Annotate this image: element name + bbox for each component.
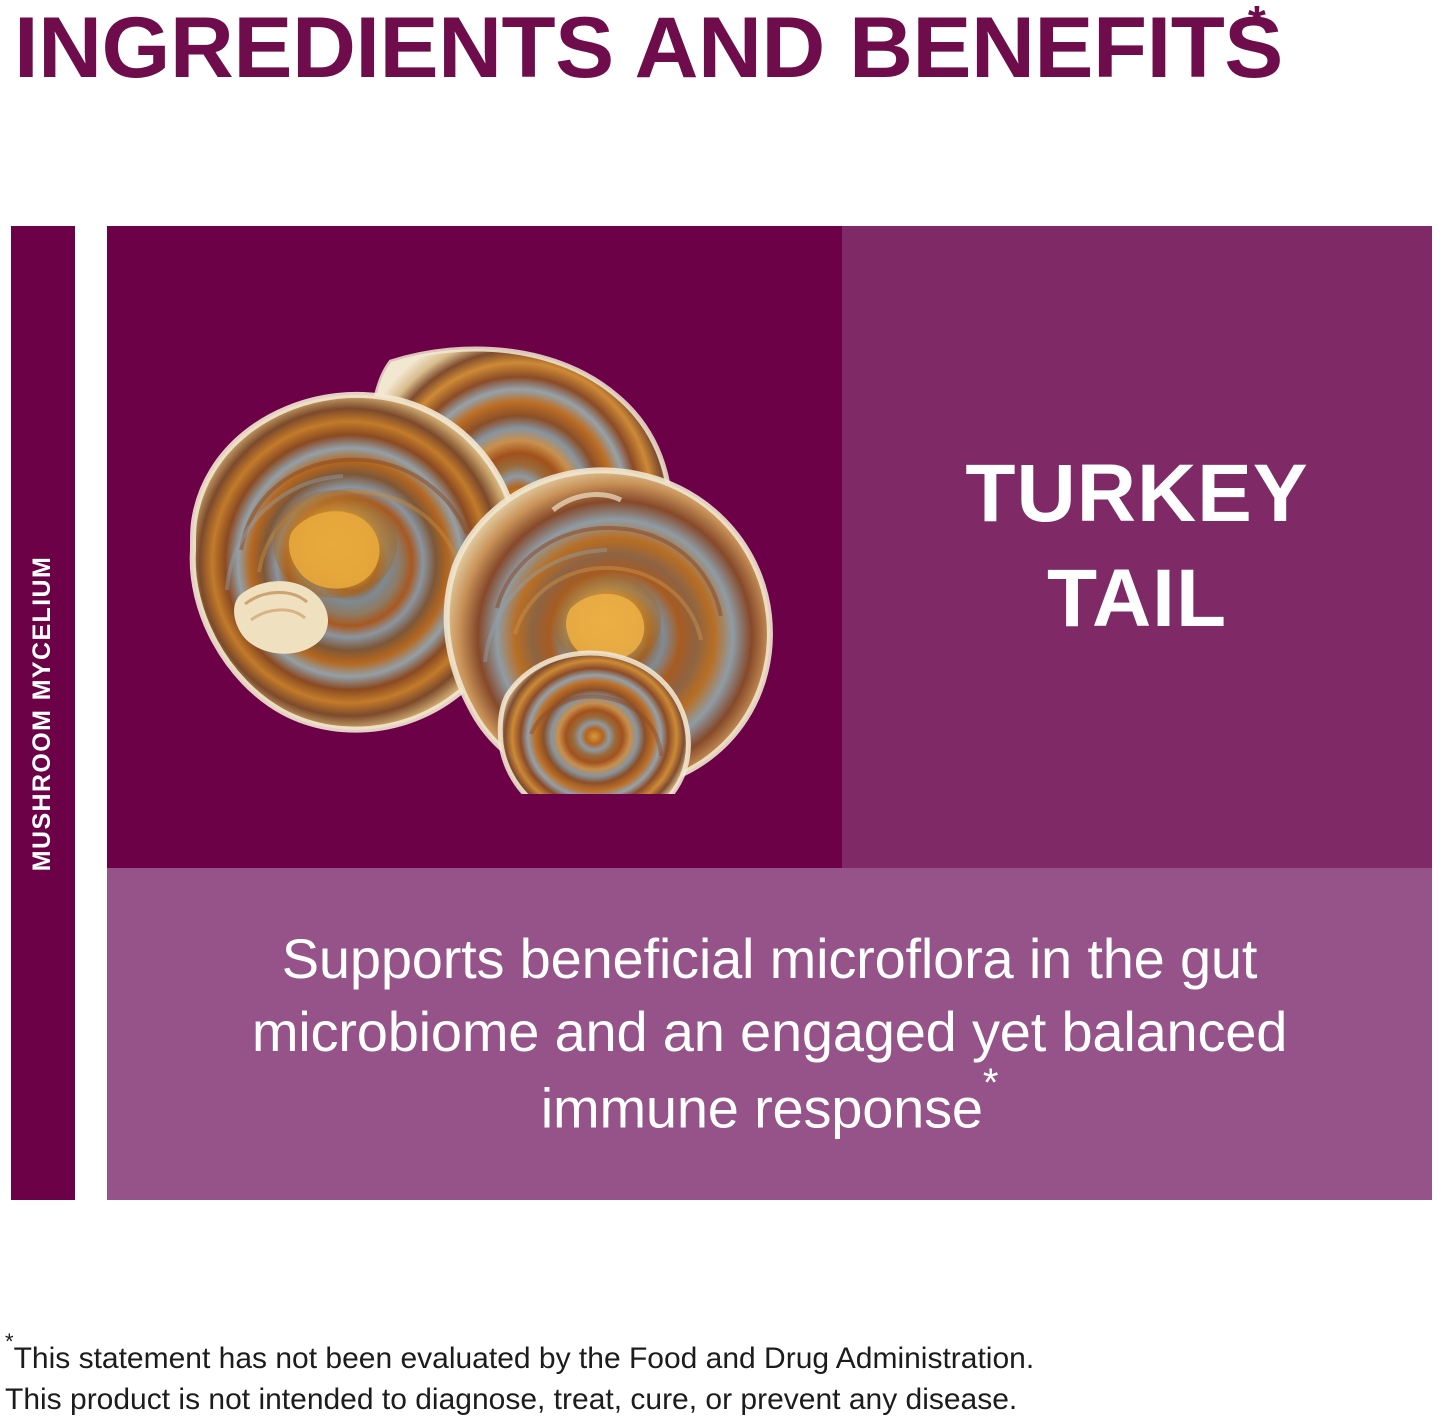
ingredient-name-pane: TURKEY TAIL	[842, 226, 1432, 868]
fda-disclaimer: *This statement has not been evaluated b…	[5, 1335, 1205, 1421]
page-title: INGREDIENTS AND BENEFITS*	[14, 0, 1434, 98]
page-title-text: INGREDIENTS AND BENEFITS	[14, 5, 1283, 91]
benefit-band: Supports beneficial microflora in the gu…	[107, 868, 1432, 1200]
fda-disclaimer-line-1-text: This statement has not been evaluated by…	[14, 1342, 1035, 1375]
fda-disclaimer-asterisk: *	[5, 1329, 14, 1354]
benefit-asterisk: *	[983, 1061, 998, 1105]
category-sidebar: MUSHROOM MYCELIUM	[11, 226, 75, 1200]
turkey-tail-mushroom-icon	[155, 304, 795, 794]
ingredient-name-line-1: TURKEY	[965, 448, 1308, 539]
category-sidebar-label: MUSHROOM MYCELIUM	[29, 555, 58, 870]
ingredient-name-line-2: TAIL	[1047, 553, 1227, 644]
ingredient-card: TURKEY TAIL Supports beneficial microflo…	[107, 226, 1432, 1200]
fda-disclaimer-line-1: *This statement has not been evaluated b…	[5, 1335, 1205, 1379]
ingredient-name: TURKEY TAIL	[941, 442, 1332, 652]
mushroom-photo-pane	[107, 226, 842, 868]
benefit-text-container: Supports beneficial microflora in the gu…	[107, 923, 1432, 1145]
page-title-asterisk: *	[1248, 0, 1266, 49]
ingredient-card-top: TURKEY TAIL	[107, 226, 1432, 868]
benefit-text: Supports beneficial microflora in the gu…	[252, 927, 1287, 1139]
